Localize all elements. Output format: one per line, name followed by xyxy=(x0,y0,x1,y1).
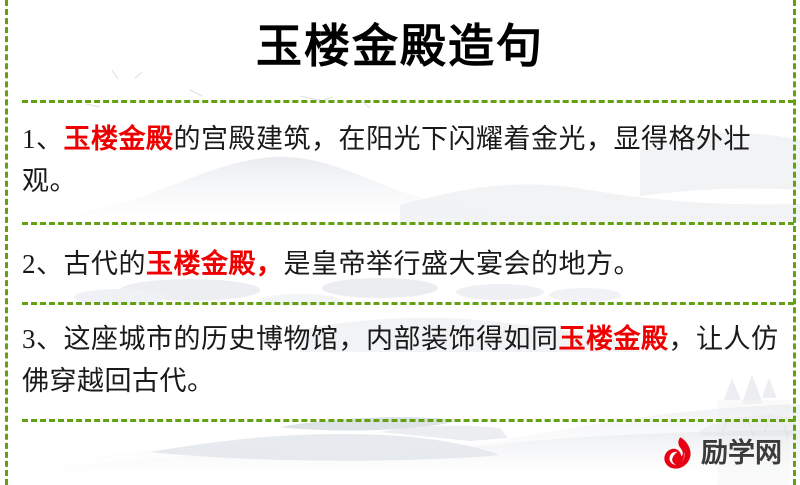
sentence-item: 3、这座城市的历史博物馆，内部装饰得如同玉楼金殿，让人仿佛穿越回古代。 xyxy=(22,318,782,402)
sentence-index: 2、 xyxy=(22,249,64,279)
separator-bottom xyxy=(22,419,794,422)
sentence-text: 这座城市的历史博物馆，内部装饰得如同 xyxy=(64,324,559,354)
separator-2 xyxy=(22,302,794,305)
sentence-text: 古代的 xyxy=(64,249,147,279)
sentence-keyword: 玉楼金殿 xyxy=(64,124,174,154)
sentence-keyword: 玉楼金殿， xyxy=(146,249,284,279)
sentence-keyword: 玉楼金殿 xyxy=(559,324,669,354)
sentence-item: 2、古代的玉楼金殿，是皇帝举行盛大宴会的地方。 xyxy=(22,243,782,285)
flame-swirl-logo-icon xyxy=(660,435,696,471)
sentence-item: 1、玉楼金殿的宫殿建筑，在阳光下闪耀着金光，显得格外壮观。 xyxy=(22,118,782,202)
watermark-brand: 励学网 xyxy=(701,440,782,467)
separator-top xyxy=(22,100,794,103)
page-title: 玉楼金殿造句 xyxy=(0,16,800,76)
sentence-index: 3、 xyxy=(22,324,64,354)
watermark: 励学网 xyxy=(660,433,782,473)
slide-page: 玉楼金殿造句 1、玉楼金殿的宫殿建筑，在阳光下闪耀着金光，显得格外壮观。 2、古… xyxy=(0,0,800,485)
separator-1 xyxy=(22,222,794,225)
sentence-text: 是皇帝举行盛大宴会的地方。 xyxy=(284,249,642,279)
sentence-index: 1、 xyxy=(22,124,64,154)
